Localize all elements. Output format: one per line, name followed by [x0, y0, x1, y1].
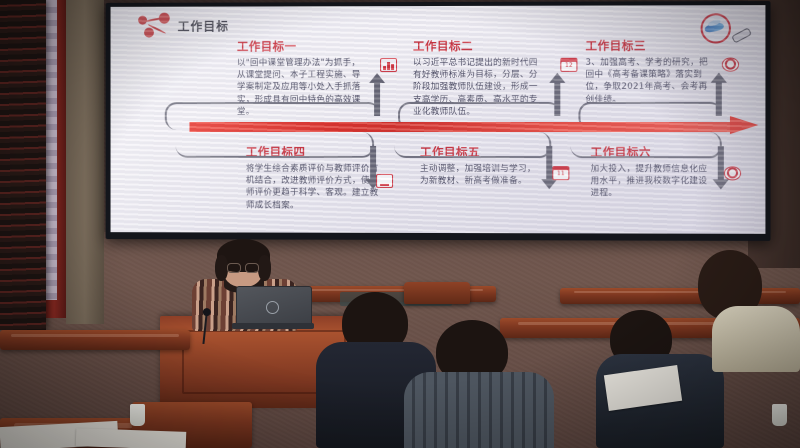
goal-heading: 工作目标三	[585, 37, 708, 53]
wall-column	[66, 0, 104, 324]
wooden-bench	[0, 330, 190, 350]
goal-body: 加大投入，提升教师信息化应用水平，推进我校数字化建设进程。	[591, 163, 710, 200]
hp-logo-icon	[266, 301, 279, 314]
down-arrow-6	[718, 146, 724, 180]
goal-body: 将学生综合素质评价与教师评价有机结合，改进教师评价方式，使教师评价更趋于科学、客…	[246, 163, 380, 212]
handout-papers	[76, 428, 187, 448]
paper-cup	[772, 404, 787, 426]
connector-line-5	[394, 132, 551, 158]
slide-title: 工作目标	[178, 17, 229, 34]
projection-screen-bezel: 工作目标 工作目标一 以"回中课堂管理办法"为抓手，从课堂提问、本子工程实施、导…	[106, 1, 771, 241]
calendar-icon: 12	[560, 58, 577, 72]
presentation-slide: 工作目标 工作目标一 以"回中课堂管理办法"为抓手，从课堂提问、本子工程实施、导…	[111, 5, 766, 234]
glasses-icon	[227, 263, 259, 271]
up-arrow-2	[554, 82, 560, 116]
monitor-icon	[376, 174, 393, 188]
node-link-icon	[138, 13, 172, 39]
hp-laptop	[232, 286, 314, 330]
gear-icon-2	[724, 166, 741, 180]
paper-cup	[130, 404, 145, 426]
pen-icon	[731, 27, 752, 43]
up-arrow-3	[716, 82, 722, 116]
main-red-arrow	[189, 120, 758, 134]
attendee	[404, 320, 554, 448]
goal-heading: 工作目标二	[413, 38, 541, 54]
calendar-icon-2: 11	[552, 166, 569, 180]
connector-line-4	[176, 132, 374, 158]
goal-heading: 工作目标一	[237, 38, 369, 54]
gear-icon	[722, 58, 739, 72]
slide-title-group: 工作目标	[138, 13, 229, 39]
goal-card-3: 工作目标三 3、加强高考、学考的研究，把回中《高考备课策略》落实到位，争取202…	[585, 37, 708, 105]
up-arrow-1	[374, 82, 380, 116]
connector-line-6	[570, 132, 721, 158]
meeting-room-photo: 工作目标 工作目标一 以"回中课堂管理办法"为抓手，从课堂提问、本子工程实施、导…	[0, 0, 800, 448]
attendee	[688, 250, 800, 372]
projection-screen: 工作目标 工作目标一 以"回中课堂管理办法"为抓手，从课堂提问、本子工程实施、导…	[111, 5, 766, 234]
goal-body: 主动调整，加强培训与学习，为新教材、新高考做准备。	[420, 163, 540, 188]
bar-chart-icon	[380, 58, 397, 72]
wood-slat-wall	[0, 0, 46, 330]
goal-body: 3、加强高考、学考的研究，把回中《高考备课策略》落实到位，争取2021年高考、会…	[585, 57, 708, 106]
